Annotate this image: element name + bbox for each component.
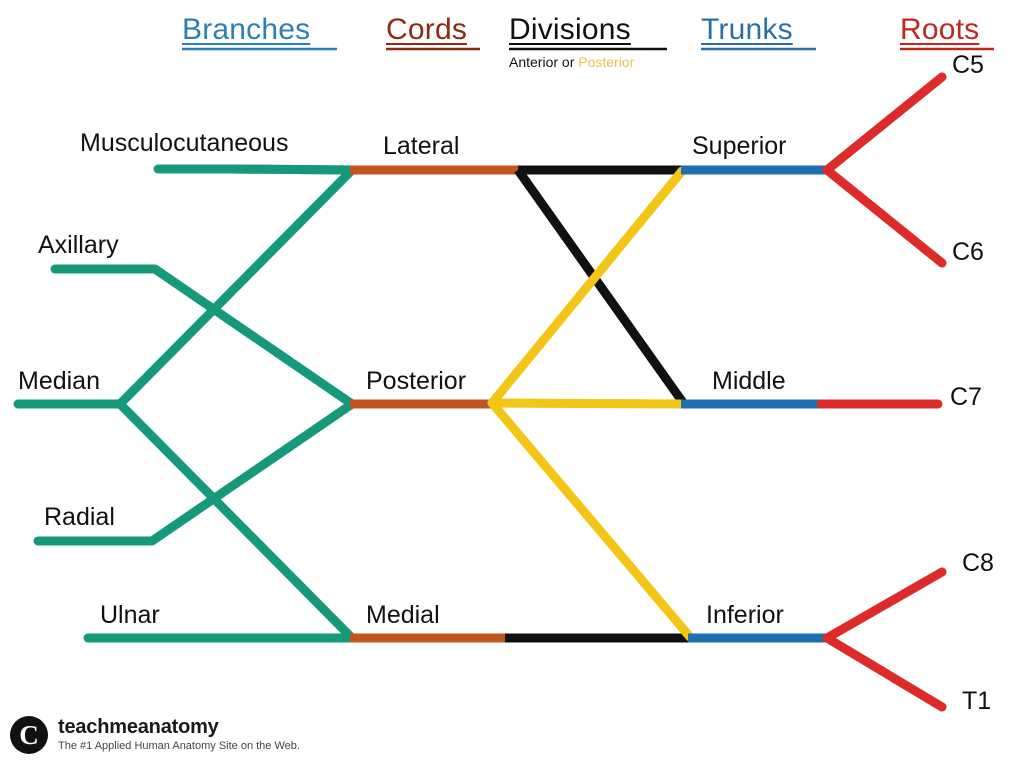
copyright-glyph: C (19, 722, 39, 749)
column-header-branches: Branches (182, 13, 310, 47)
root-line-c5 (827, 77, 942, 170)
label-cord-lateral: Lateral (383, 134, 459, 159)
label-root-c5: C5 (952, 53, 984, 78)
label-branch-median: Median (18, 369, 100, 394)
branch-line-musculocutaneous-diagonal (232, 169, 352, 170)
root-line-c8 (827, 572, 942, 638)
brand-text-block: teachmeanatomy The #1 Applied Human Anat… (58, 717, 300, 753)
label-cord-medial: Medial (366, 603, 440, 628)
footer-branding: C teachmeanatomy The #1 Applied Human An… (10, 716, 300, 754)
label-trunk-middle: Middle (712, 369, 786, 394)
division-posterior-posterior-inferior (492, 403, 690, 637)
brachial-plexus-diagram: Branches Cords Divisions Trunks Roots An… (0, 0, 1024, 768)
root-line-t1 (827, 638, 942, 707)
label-branch-ulnar: Ulnar (100, 603, 160, 628)
label-root-c6: C6 (952, 240, 984, 265)
label-trunk-inferior: Inferior (706, 603, 784, 628)
label-root-c8: C8 (962, 551, 994, 576)
column-header-cords: Cords (386, 13, 467, 47)
label-trunk-superior: Superior (692, 134, 787, 159)
trunk-lines-group (681, 170, 828, 638)
brand-name: teachmeanatomy (58, 717, 300, 738)
divisions-subtitle-posterior: Posterior (578, 54, 634, 70)
plexus-svg-canvas (0, 0, 1024, 768)
column-header-roots: Roots (900, 13, 979, 47)
divisions-subtitle: Anterior or Posterior (509, 54, 634, 70)
brand-tagline: The #1 Applied Human Anatomy Site on the… (58, 740, 300, 753)
column-header-divisions: Divisions (509, 13, 631, 47)
root-line-c6 (827, 170, 942, 263)
division-posterior-lines-group (492, 171, 690, 637)
label-root-c7: C7 (950, 385, 982, 410)
copyright-icon: C (10, 716, 48, 754)
column-header-trunks: Trunks (701, 13, 793, 47)
label-cord-posterior: Posterior (366, 369, 466, 394)
label-branch-radial: Radial (44, 505, 115, 530)
label-root-t1: T1 (962, 689, 991, 714)
root-lines-group (821, 77, 942, 707)
label-branch-musculocutaneous: Musculocutaneous (80, 131, 288, 156)
divisions-subtitle-anterior: Anterior or (509, 54, 578, 70)
division-posterior-posterior-middle (492, 403, 684, 404)
label-branch-axillary: Axillary (38, 233, 119, 258)
